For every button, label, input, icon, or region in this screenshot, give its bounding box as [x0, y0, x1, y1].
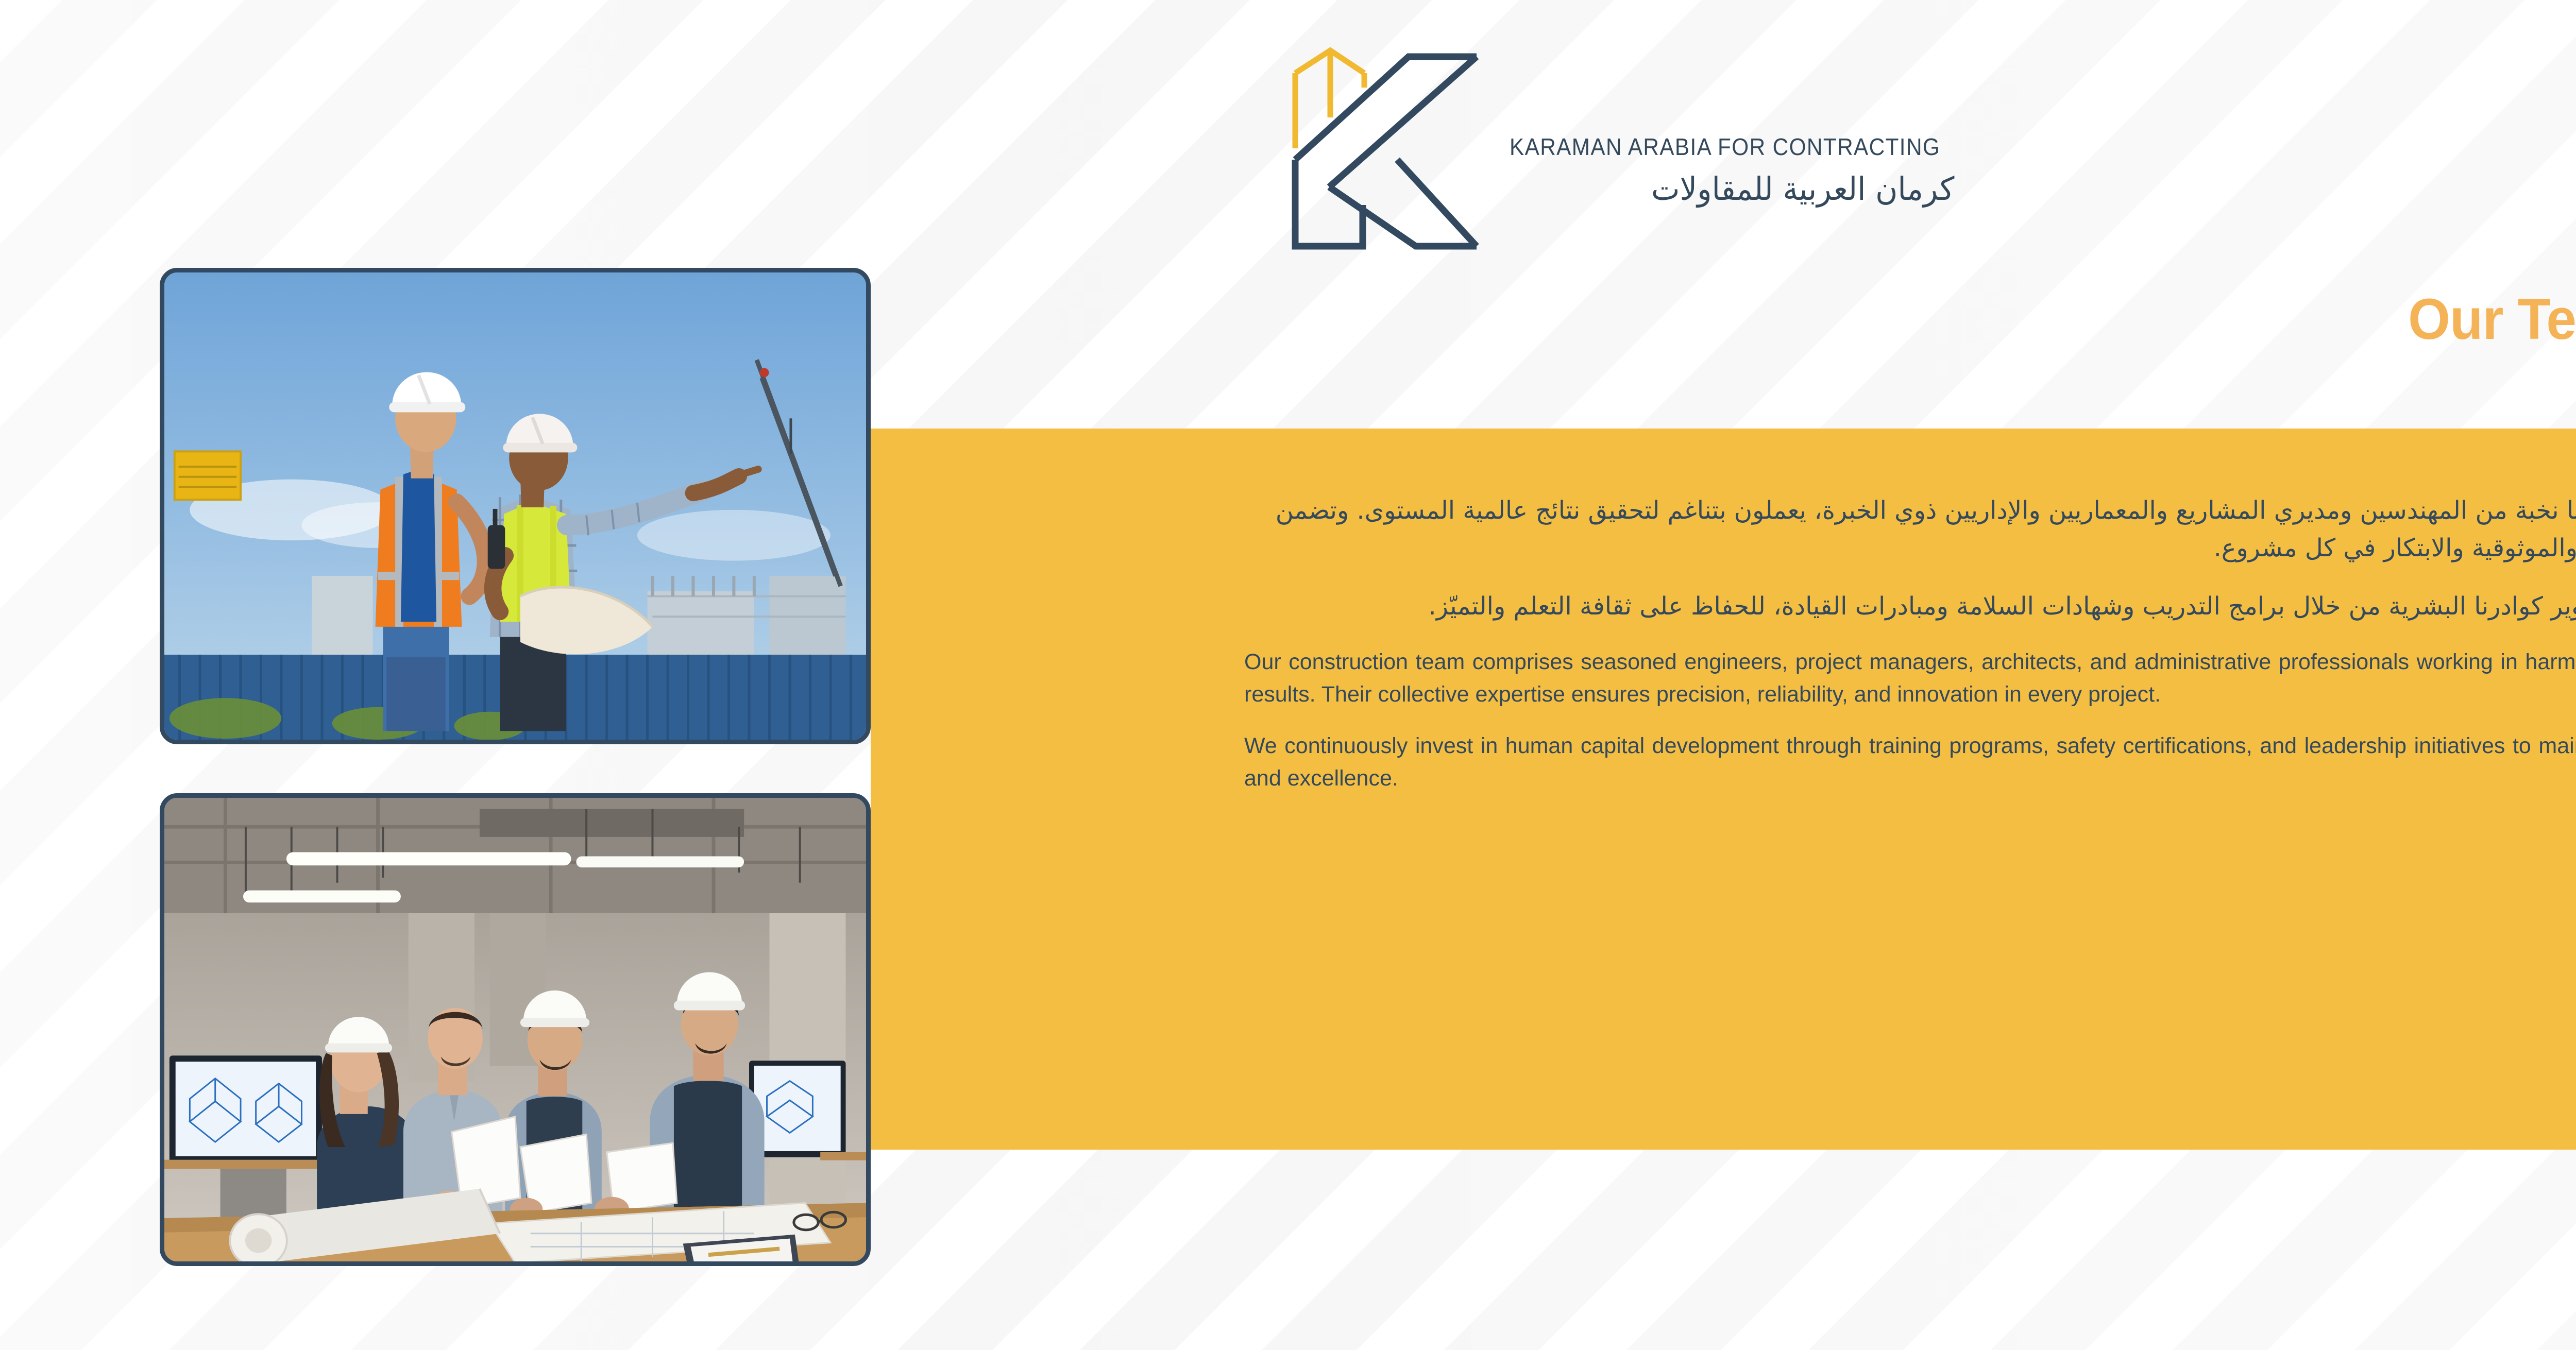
brand-name-en: KARAMAN ARABIA FOR CONTRACTING: [1510, 133, 1940, 161]
karaman-k-monogram-icon: [1273, 45, 1479, 249]
english-paragraph-2: We continuously invest in human capital …: [1244, 730, 2576, 795]
page-title: Our Team / فريقنا: [1138, 286, 2576, 353]
photo-office-team: [160, 793, 871, 1266]
english-paragraph-1: Our construction team comprises seasoned…: [1244, 646, 2576, 711]
photo-construction-site: [160, 268, 871, 744]
brand-wordmark: KARAMAN ARABIA FOR CONTRACTING كرمان الع…: [1510, 87, 1978, 208]
brand-logo: KARAMAN ARABIA FOR CONTRACTING كرمان الع…: [1273, 44, 2004, 250]
arabic-paragraph-1: يضم فريق المقاولات لدينا نخبة من المهندس…: [1244, 492, 2576, 567]
body-text-column: يضم فريق المقاولات لدينا نخبة من المهندس…: [1244, 492, 2576, 795]
arabic-paragraph-2: نستثمر باستمرار في تطوير كوادرنا البشرية…: [1244, 588, 2576, 625]
brand-name-ar: كرمان العربية للمقاولات: [1510, 170, 1954, 208]
